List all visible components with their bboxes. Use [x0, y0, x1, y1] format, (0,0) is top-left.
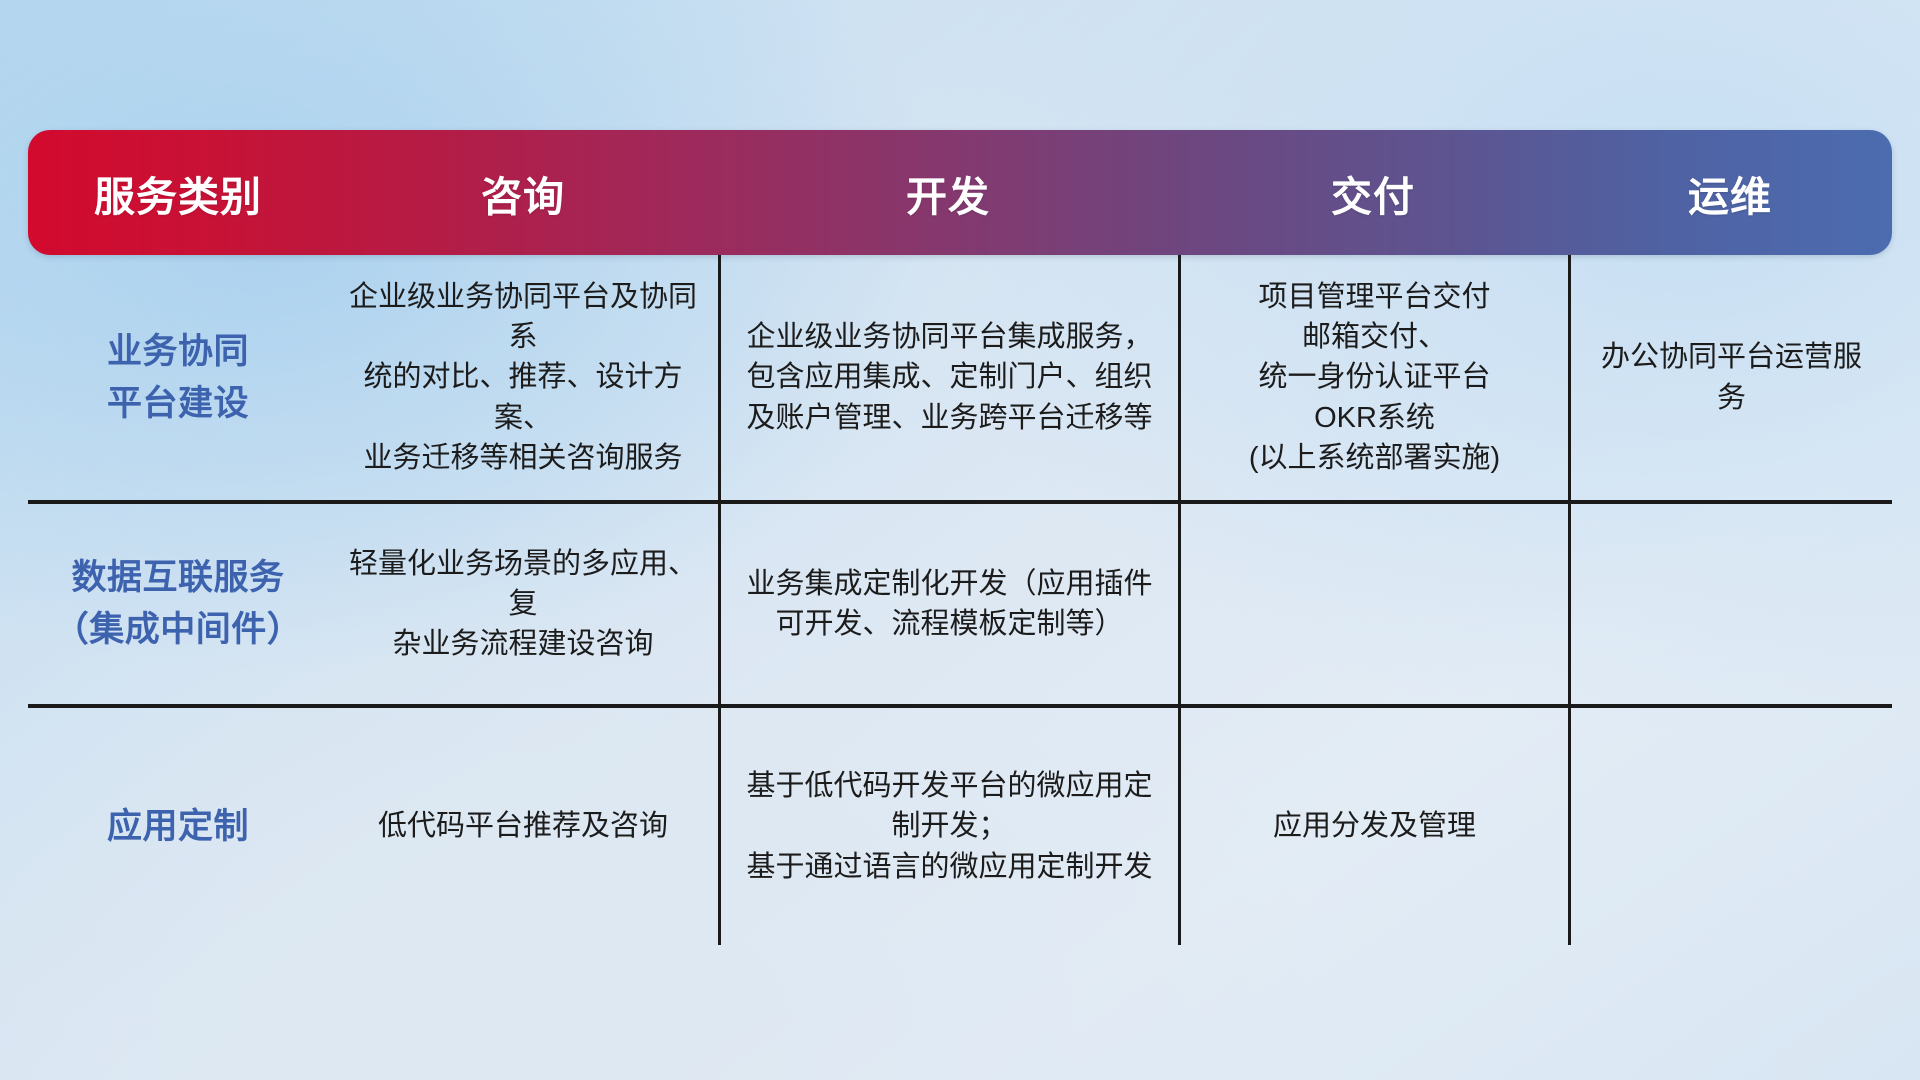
- row-category-cell: 应用定制: [28, 708, 328, 945]
- cell-consulting: 轻量化业务场景的多应用、复 杂业务流程建设咨询: [328, 504, 718, 704]
- column-header-delivery: 交付: [1178, 130, 1568, 255]
- row-category-line-2: （集成中间件）: [54, 610, 303, 649]
- cell-operations: [1568, 708, 1892, 945]
- cell-consulting-text: 企业级业务协同平台及协同系 统的对比、推荐、设计方案、 业务迁移等相关咨询服务: [346, 277, 700, 477]
- cell-development: 基于低代码开发平台的微应用定 制开发； 基于通过语言的微应用定制开发: [718, 708, 1178, 945]
- row-category-cell: 数据互联服务 （集成中间件）: [28, 504, 328, 704]
- row-category-label: 数据互联服务 （集成中间件）: [54, 552, 303, 656]
- column-header-operations: 运维: [1568, 130, 1892, 255]
- cell-delivery: 项目管理平台交付 邮箱交付、 统一身份认证平台 OKR系统 (以上系统部署实施): [1178, 255, 1568, 500]
- table-row: 应用定制 低代码平台推荐及咨询 基于低代码开发平台的微应用定 制开发； 基于通过…: [28, 704, 1892, 945]
- table-row: 数据互联服务 （集成中间件） 轻量化业务场景的多应用、复 杂业务流程建设咨询 业…: [28, 500, 1892, 704]
- row-category-label: 业务协同 平台建设: [107, 326, 249, 430]
- table-body: 业务协同 平台建设 企业级业务协同平台及协同系 统的对比、推荐、设计方案、 业务…: [28, 255, 1892, 945]
- row-category-line-1: 业务协同: [107, 332, 249, 371]
- row-category-cell: 业务协同 平台建设: [28, 255, 328, 500]
- row-category-line-2: 平台建设: [107, 384, 249, 423]
- cell-consulting-text: 低代码平台推荐及咨询: [378, 806, 668, 846]
- cell-development: 业务集成定制化开发（应用插件 可开发、流程模板定制等）: [718, 504, 1178, 704]
- cell-operations-text: 办公协同平台运营服务: [1589, 337, 1874, 417]
- cell-delivery: [1178, 504, 1568, 704]
- cell-delivery-text: 项目管理平台交付 邮箱交付、 统一身份认证平台 OKR系统 (以上系统部署实施): [1249, 277, 1500, 477]
- cell-development: 企业级业务协同平台集成服务， 包含应用集成、定制门户、组织 及账户管理、业务跨平…: [718, 255, 1178, 500]
- service-matrix-table: 服务类别 咨询 开发 交付 运维 业务协同 平台建设 企业级业务协同平台及协同系…: [28, 130, 1892, 945]
- row-category-line-1: 数据互联服务: [71, 558, 284, 597]
- column-header-development: 开发: [718, 130, 1178, 255]
- table-row: 业务协同 平台建设 企业级业务协同平台及协同系 统的对比、推荐、设计方案、 业务…: [28, 255, 1892, 500]
- cell-operations: 办公协同平台运营服务: [1568, 255, 1892, 500]
- cell-development-text: 业务集成定制化开发（应用插件 可开发、流程模板定制等）: [746, 564, 1152, 644]
- column-header-service-category: 服务类别 咨询: [28, 130, 718, 255]
- column-header-service-category-label: 服务类别: [28, 163, 328, 223]
- cell-consulting: 企业级业务协同平台及协同系 统的对比、推荐、设计方案、 业务迁移等相关咨询服务: [328, 255, 718, 500]
- table-header-row: 服务类别 咨询 开发 交付 运维: [28, 130, 1892, 255]
- row-category-line-1: 应用定制: [107, 807, 249, 846]
- cell-delivery: 应用分发及管理: [1178, 708, 1568, 945]
- cell-operations: [1568, 504, 1892, 704]
- cell-development-text: 企业级业务协同平台集成服务， 包含应用集成、定制门户、组织 及账户管理、业务跨平…: [746, 317, 1152, 437]
- column-header-consulting-label: 咨询: [328, 163, 718, 223]
- cell-consulting: 低代码平台推荐及咨询: [328, 708, 718, 945]
- row-category-label: 应用定制: [107, 801, 249, 853]
- cell-development-text: 基于低代码开发平台的微应用定 制开发； 基于通过语言的微应用定制开发: [746, 766, 1152, 886]
- cell-delivery-text: 应用分发及管理: [1273, 806, 1476, 846]
- cell-consulting-text: 轻量化业务场景的多应用、复 杂业务流程建设咨询: [346, 544, 700, 664]
